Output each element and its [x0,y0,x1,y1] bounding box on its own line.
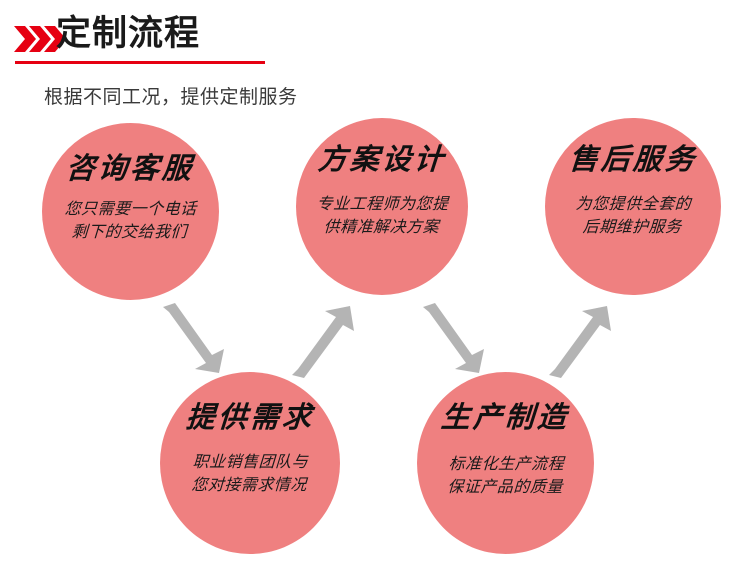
flow-node-title: 咨询客服 [65,155,195,184]
arrow-down-right-icon [415,303,487,375]
arrow-down-right-icon [155,303,227,375]
flow-node-body-line: 剩下的交给我们 [63,221,196,244]
flow-node-body-line: 保证产品的质量 [447,476,564,499]
flow-node-body-line: 为您提供全套的 [575,193,692,216]
flow-node-manufacturing[interactable]: 生产制造 标准化生产流程 保证产品的质量 [417,372,594,554]
flow-node-body-line: 您对接需求情况 [191,474,308,497]
flow-node-title: 方案设计 [317,146,447,175]
flow-node-body: 为您提供全套的 后期维护服务 [574,193,692,239]
arrow-up-right-icon [288,303,360,378]
flow-node-body-line: 后期维护服务 [574,216,691,239]
flow-node-title: 提供需求 [185,404,315,433]
flow-node-requirements[interactable]: 提供需求 职业销售团队与 您对接需求情况 [160,372,340,554]
flow-node-body: 专业工程师为您提 供精准解决方案 [315,193,449,239]
page-header: 定制流程 根据不同工况，提供定制服务 [0,0,750,72]
flow-node-consult[interactable]: 咨询客服 您只需要一个电话 剩下的交给我们 [42,123,219,300]
flow-node-body: 标准化生产流程 保证产品的质量 [447,453,565,499]
header-underline [15,61,265,64]
flow-node-title: 生产制造 [440,404,570,433]
page-subtitle: 根据不同工况，提供定制服务 [44,82,298,109]
flow-node-body-line: 供精准解决方案 [315,216,448,239]
flow-node-body: 职业销售团队与 您对接需求情况 [191,451,309,497]
flow-node-body-line: 职业销售团队与 [192,451,309,474]
page-title: 定制流程 [56,12,200,56]
flow-node-body-line: 您只需要一个电话 [64,198,197,221]
flow-node-body-line: 专业工程师为您提 [316,193,449,216]
flow-node-body-line: 标准化生产流程 [448,453,565,476]
flow-node-title: 售后服务 [568,146,698,175]
flow-node-design[interactable]: 方案设计 专业工程师为您提 供精准解决方案 [296,118,468,295]
customization-process-infographic: 定制流程 根据不同工况，提供定制服务 咨询客服 您只需要一个电话 剩下的交给我们… [0,0,750,576]
flow-node-after-sales[interactable]: 售后服务 为您提供全套的 后期维护服务 [545,118,721,295]
flow-node-body: 您只需要一个电话 剩下的交给我们 [63,198,197,244]
arrow-up-right-icon [545,303,617,378]
